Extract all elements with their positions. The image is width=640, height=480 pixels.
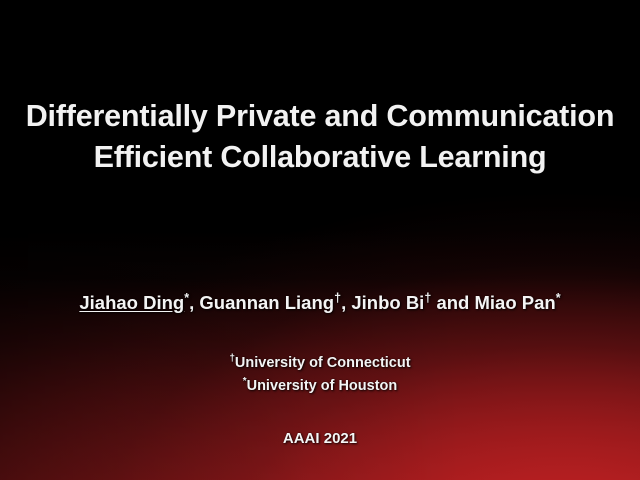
slide-content: Differentially Private and Communication… [0,0,640,480]
author-separator-2: , [341,292,351,313]
presentation-title: Differentially Private and Communication… [0,96,640,178]
affiliation-item: †University of Connecticut [0,352,640,375]
affiliation-name: University of Connecticut [235,355,411,371]
author-2-name: Guannan Liang [199,292,334,313]
author-2-affiliation-mark: † [334,291,341,305]
author-4-name: Miao Pan [475,292,556,313]
affiliation-item: *University of Houston [0,375,640,398]
author-presenting-name: Jiahao Ding [79,292,184,313]
author-4-affiliation-mark: * [556,291,561,305]
affiliation-list: †University of Connecticut *University o… [0,352,640,399]
author-separator-1: , [189,292,199,313]
venue-label: AAAI 2021 [0,430,640,447]
author-3-name: Jinbo Bi [351,292,424,313]
author-list: Jiahao Ding*, Guannan Liang†, Jinbo Bi† … [0,292,640,314]
title-slide: Differentially Private and Communication… [0,0,640,480]
affiliation-name: University of Houston [247,378,398,394]
title-line-2: Efficient Collaborative Learning [0,137,640,178]
title-line-1: Differentially Private and Communication [0,96,640,137]
author-conjunction: and [431,292,474,313]
